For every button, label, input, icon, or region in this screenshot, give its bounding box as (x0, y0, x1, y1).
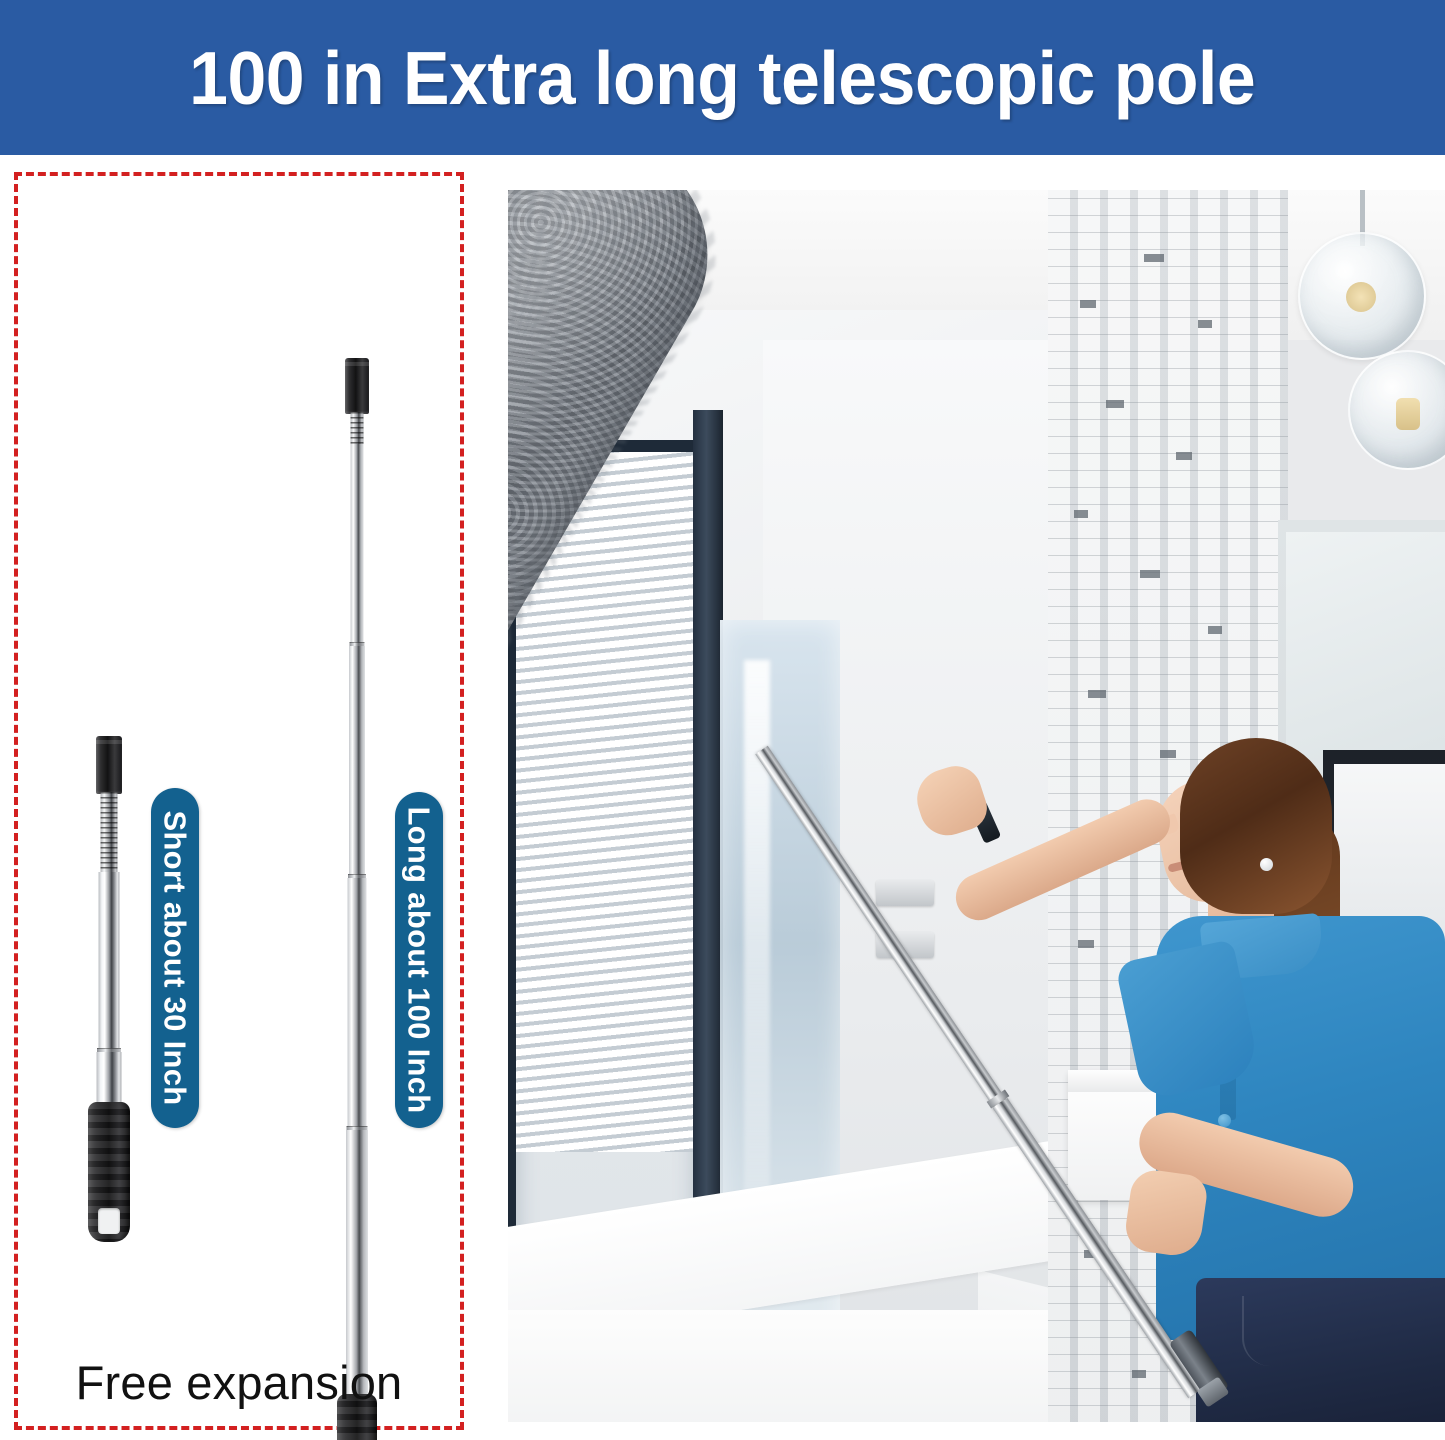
pole-threaded-section (101, 792, 118, 874)
bathtub-front (508, 1310, 1128, 1440)
free-expansion-caption: Free expansion (14, 1355, 464, 1410)
page-title: 100 in Extra long telescopic pole (189, 35, 1255, 121)
telescopic-pole-extended (318, 358, 396, 1440)
pole-shaft-segment (348, 878, 367, 1128)
grip-hang-hole (98, 1208, 120, 1234)
pole-tip-cap-icon (96, 736, 122, 794)
woman-earring (1260, 858, 1273, 871)
pole-shaft-segment (349, 646, 365, 876)
pendant-light-bulb-filament (1346, 282, 1376, 312)
label-long-length-text: Long about 100 Inch (401, 806, 437, 1113)
pole-tip-cap-icon (345, 358, 369, 414)
label-long-length: Long about 100 Inch (395, 792, 443, 1128)
pole-threaded-section (351, 412, 364, 446)
pendant-light-bulb-filament (1396, 398, 1420, 430)
label-short-length-text: Short about 30 Inch (157, 810, 193, 1105)
shower-valve-trim (876, 880, 934, 906)
pole-grip-handle (88, 1102, 130, 1242)
pole-shaft-segment (97, 1052, 122, 1108)
photo-bottom-edge (508, 1422, 1445, 1440)
telescopic-pole-collapsed (70, 736, 148, 1206)
lifestyle-photo (508, 190, 1445, 1440)
product-diagram-panel: Short about 30 Inch Long about 100 Inch (14, 172, 464, 1430)
pole-shaft-segment (99, 872, 120, 1052)
product-infographic: 100 in Extra long telescopic pole (0, 0, 1445, 1440)
pole-shaft-segment (351, 444, 364, 644)
woman-trouser-pocket (1242, 1296, 1360, 1366)
header-banner: 100 in Extra long telescopic pole (0, 0, 1445, 155)
label-short-length: Short about 30 Inch (151, 788, 199, 1128)
woman-hair (1180, 738, 1332, 914)
